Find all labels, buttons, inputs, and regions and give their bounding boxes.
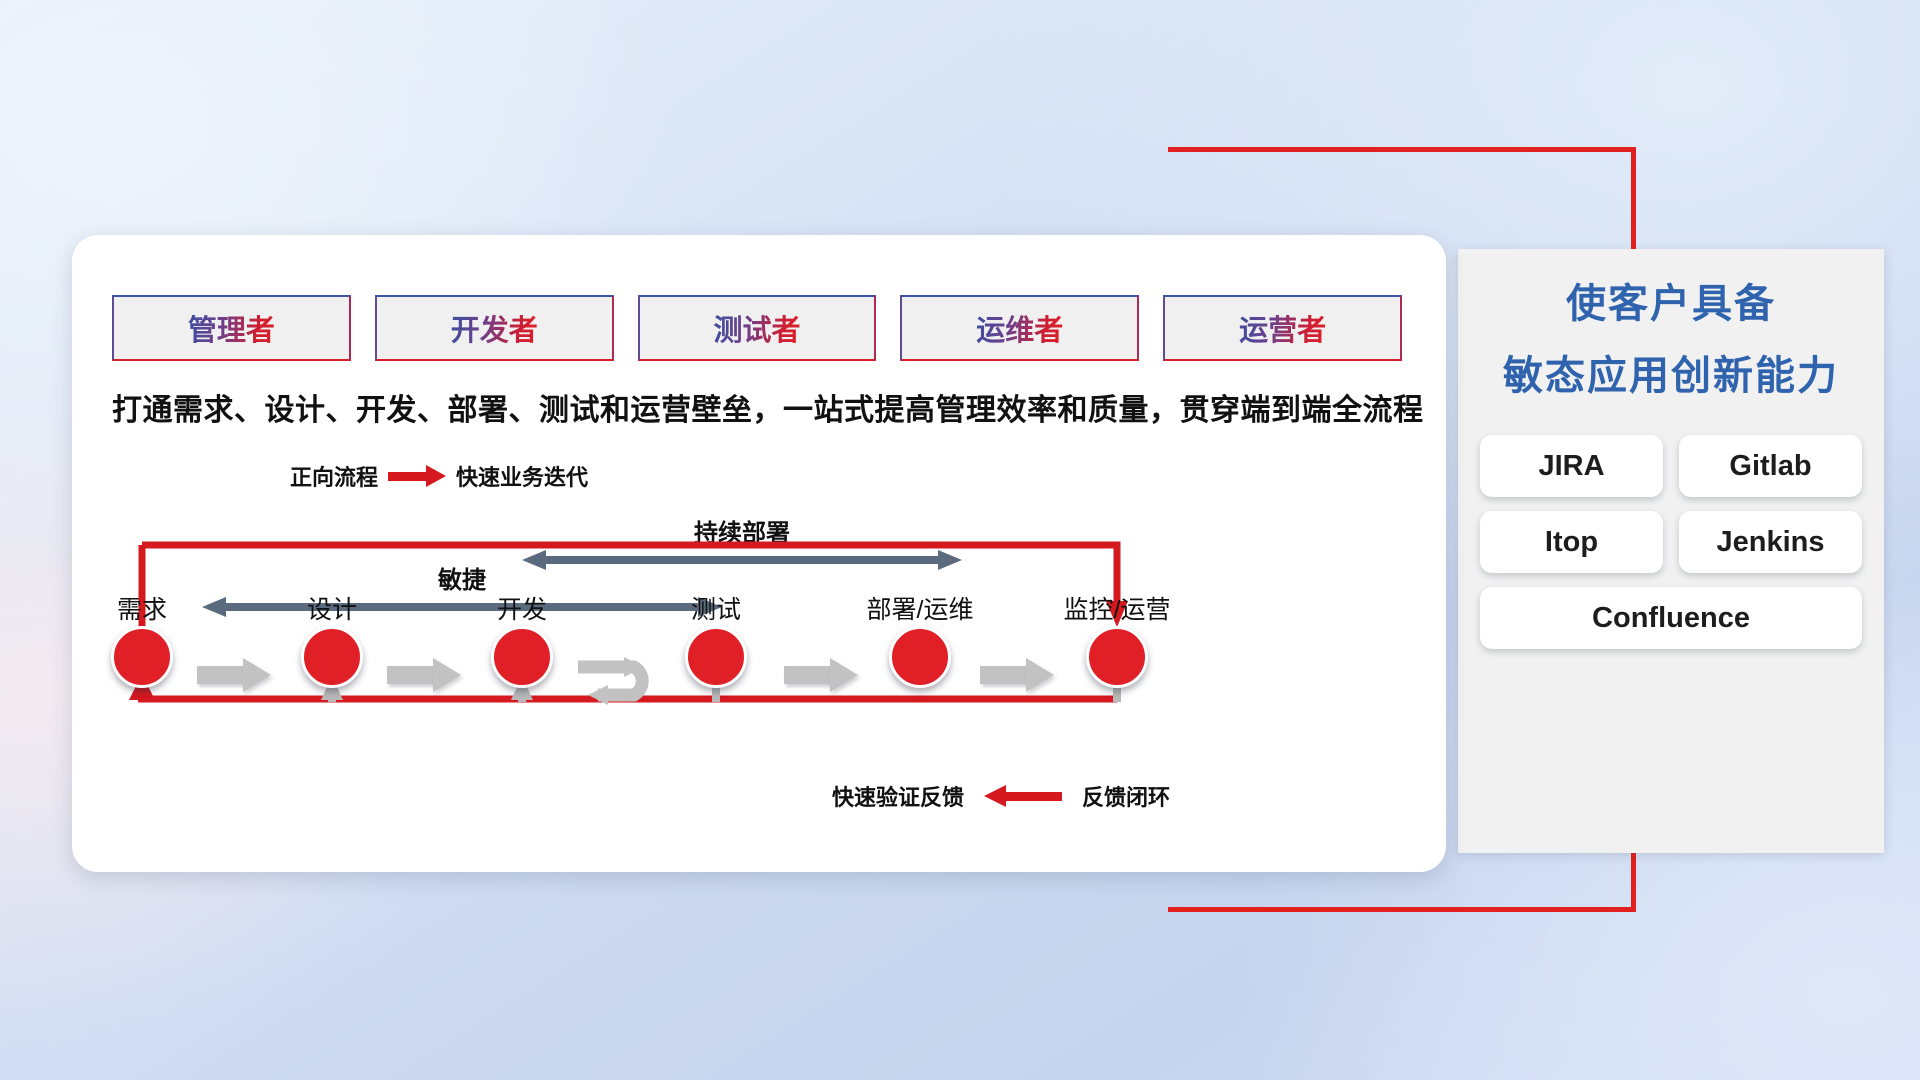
stage-dot[interactable]	[889, 626, 951, 688]
role-label: 测试者	[713, 307, 800, 349]
role-label: 运维者	[976, 307, 1063, 349]
stage-dot[interactable]	[685, 626, 747, 688]
stage-dot[interactable]	[301, 626, 363, 688]
stage-dot[interactable]	[1086, 626, 1148, 688]
stage-label: 开发	[497, 590, 547, 626]
block-arrow-right-icon	[387, 658, 461, 692]
headline-text: 打通需求、设计、开发、部署、测试和运营壁垒，一站式提高管理效率和质量，贯穿端到端…	[112, 385, 1412, 429]
arrow-left-red-icon	[984, 785, 1062, 807]
role-box-ops[interactable]: 运维者	[900, 295, 1139, 361]
tool-chip-gitlab[interactable]: Gitlab	[1679, 435, 1862, 497]
role-label: 运营者	[1239, 307, 1326, 349]
role-box-manager[interactable]: 管理者	[112, 295, 351, 361]
legend-forward-left-label: 正向流程	[290, 460, 378, 492]
legend-feedback-left-label: 快速验证反馈	[832, 780, 964, 812]
legend-forward-flow: 正向流程 快速业务迭代	[290, 460, 588, 492]
span-label: 持续部署	[522, 513, 962, 548]
role-box-developer[interactable]: 开发者	[375, 295, 614, 361]
tool-chip-jenkins[interactable]: Jenkins	[1679, 511, 1862, 573]
tools-panel-heading-line2: 敏态应用创新能力	[1480, 347, 1862, 405]
role-box-row: 管理者 开发者 测试者 运维者 运营者	[112, 295, 1402, 361]
stage-dot[interactable]	[111, 626, 173, 688]
role-label: 开发者	[451, 307, 538, 349]
tool-chip-grid: JIRA Gitlab Itop Jenkins Confluence	[1480, 435, 1862, 649]
pipeline-row: 需求 设计 开发 测试 部署/运维 监控/运营	[112, 590, 1412, 720]
tools-panel-heading-line1: 使客户具备	[1480, 275, 1862, 333]
legend-forward-right-label: 快速业务迭代	[456, 460, 588, 492]
tool-chip-jira[interactable]: JIRA	[1480, 435, 1663, 497]
legend-feedback-right-label: 反馈闭环	[1082, 780, 1170, 812]
stage-label: 部署/运维	[867, 590, 974, 626]
tool-chip-itop[interactable]: Itop	[1480, 511, 1663, 573]
main-card: 管理者 开发者 测试者 运维者 运营者 打通需求、设计、开发、部署、测试和运营壁…	[72, 235, 1446, 872]
stage-label: 监控/运营	[1064, 590, 1171, 626]
stage-dot[interactable]	[491, 626, 553, 688]
role-box-tester[interactable]: 测试者	[638, 295, 877, 361]
cycle-arrow-icon	[572, 650, 684, 708]
role-label: 管理者	[188, 307, 275, 349]
role-box-operations[interactable]: 运营者	[1163, 295, 1402, 361]
tool-chip-confluence[interactable]: Confluence	[1480, 587, 1862, 649]
block-arrow-right-icon	[980, 658, 1054, 692]
block-arrow-right-icon	[784, 658, 858, 692]
tools-panel-heading: 使客户具备 敏态应用创新能力	[1480, 275, 1862, 405]
legend-feedback-loop: 快速验证反馈 反馈闭环	[832, 780, 1170, 812]
block-arrow-right-icon	[197, 658, 271, 692]
stage-label: 设计	[307, 590, 357, 626]
arrow-right-red-icon	[388, 465, 446, 487]
tools-panel: 使客户具备 敏态应用创新能力 JIRA Gitlab Itop Jenkins …	[1458, 249, 1884, 853]
stage-label: 测试	[691, 590, 741, 626]
stage-label: 需求	[117, 590, 167, 626]
